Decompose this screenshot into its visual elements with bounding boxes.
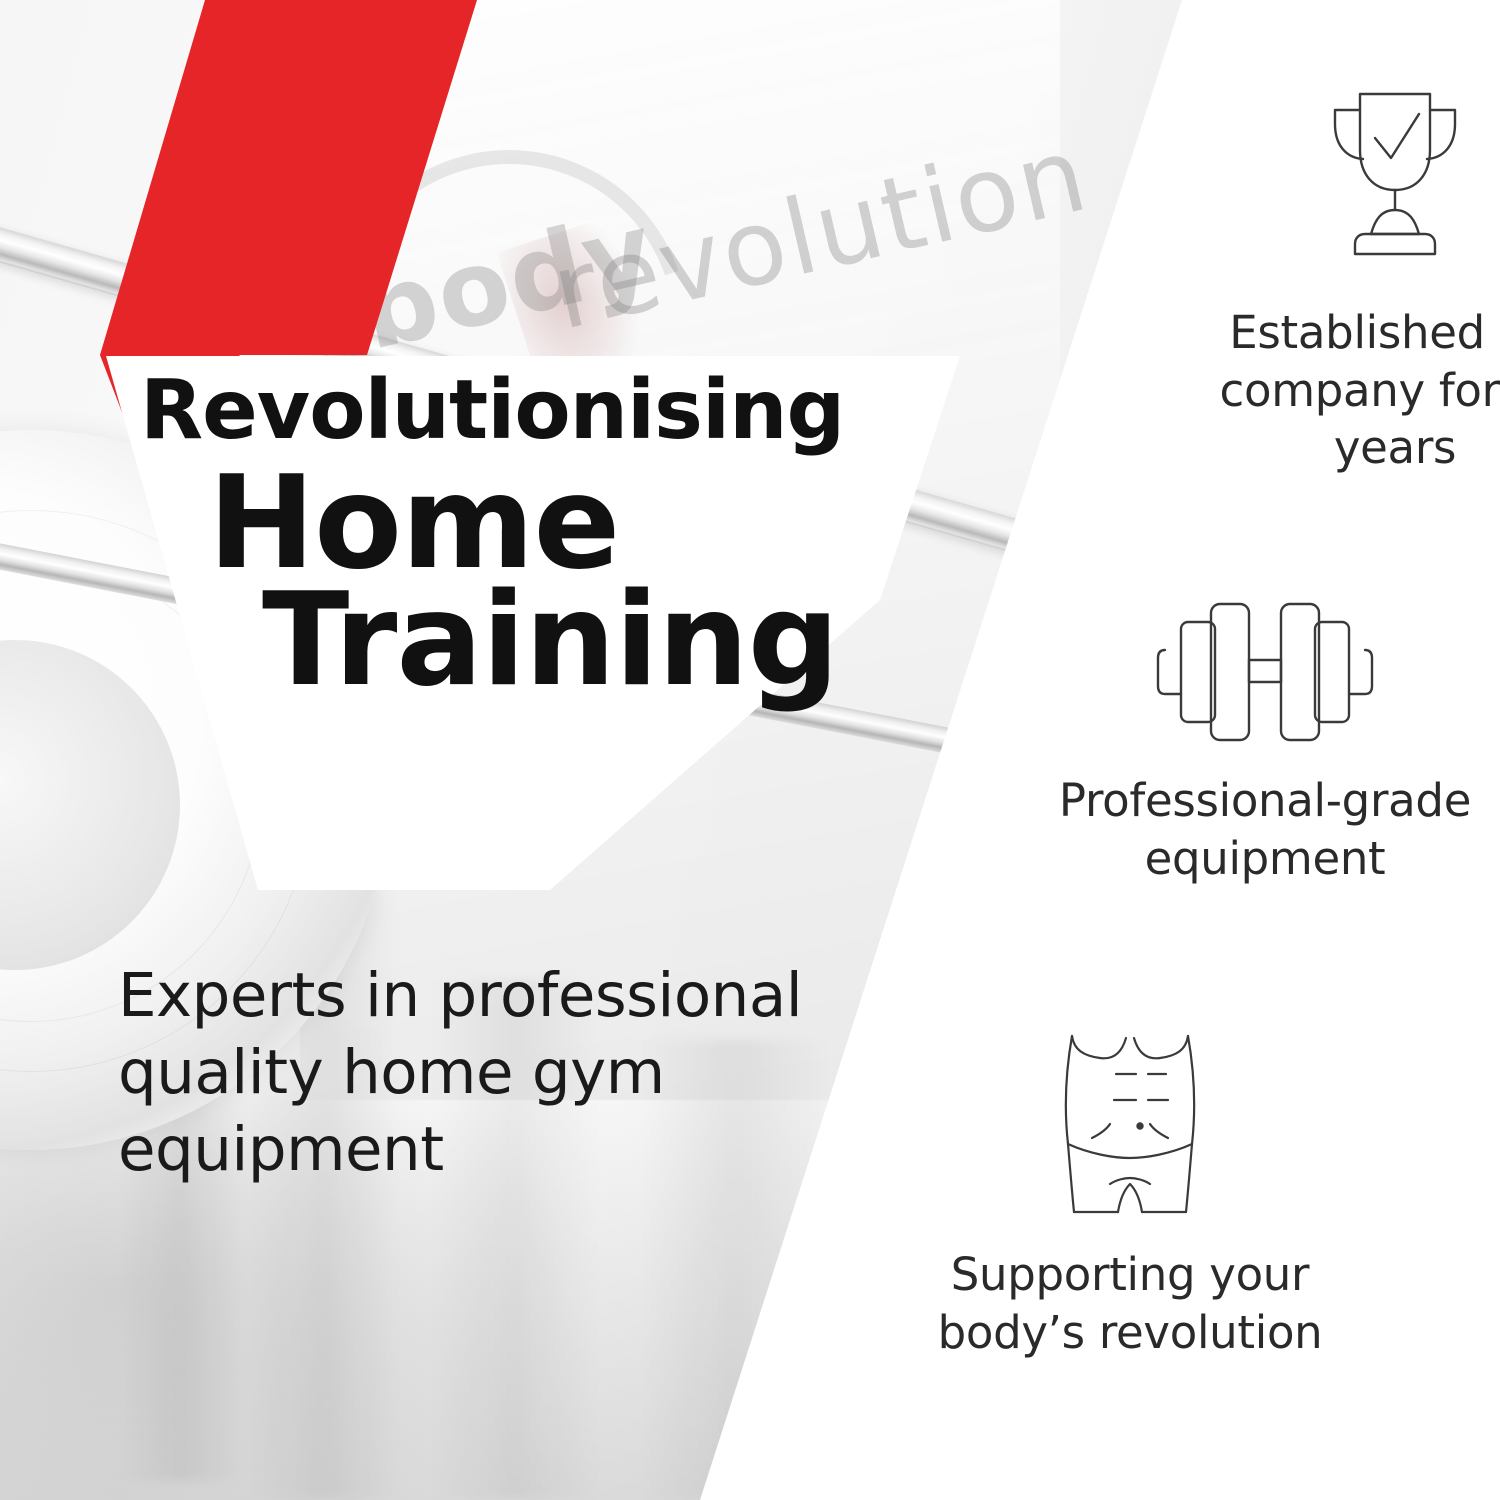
headline-line-1: Revolutionising: [140, 372, 920, 451]
headline-line-3: Training: [262, 580, 920, 703]
subheading: Experts in professional quality home gym…: [118, 958, 838, 1189]
feature-list: Established UK company for 20 years: [900, 0, 1500, 1500]
feature-item-established: Established UK company for 20 years: [1185, 88, 1500, 477]
page-title: Revolutionising Home Training: [140, 372, 920, 702]
feature-label: Professional-grade equipment: [1055, 772, 1475, 887]
feature-label: Supporting your body’s revolution: [920, 1246, 1340, 1361]
feature-label: Established UK company for 20 years: [1185, 304, 1500, 477]
dumbbell-icon: [1055, 598, 1475, 746]
promo-banner: body revolution Revolutionising Home Tra…: [0, 0, 1500, 1500]
trophy-check-icon: [1185, 88, 1500, 278]
torso-abs-icon: [920, 1030, 1340, 1220]
feature-item-body: Supporting your body’s revolution: [920, 1030, 1340, 1361]
feature-item-equipment: Professional-grade equipment: [1055, 598, 1475, 887]
